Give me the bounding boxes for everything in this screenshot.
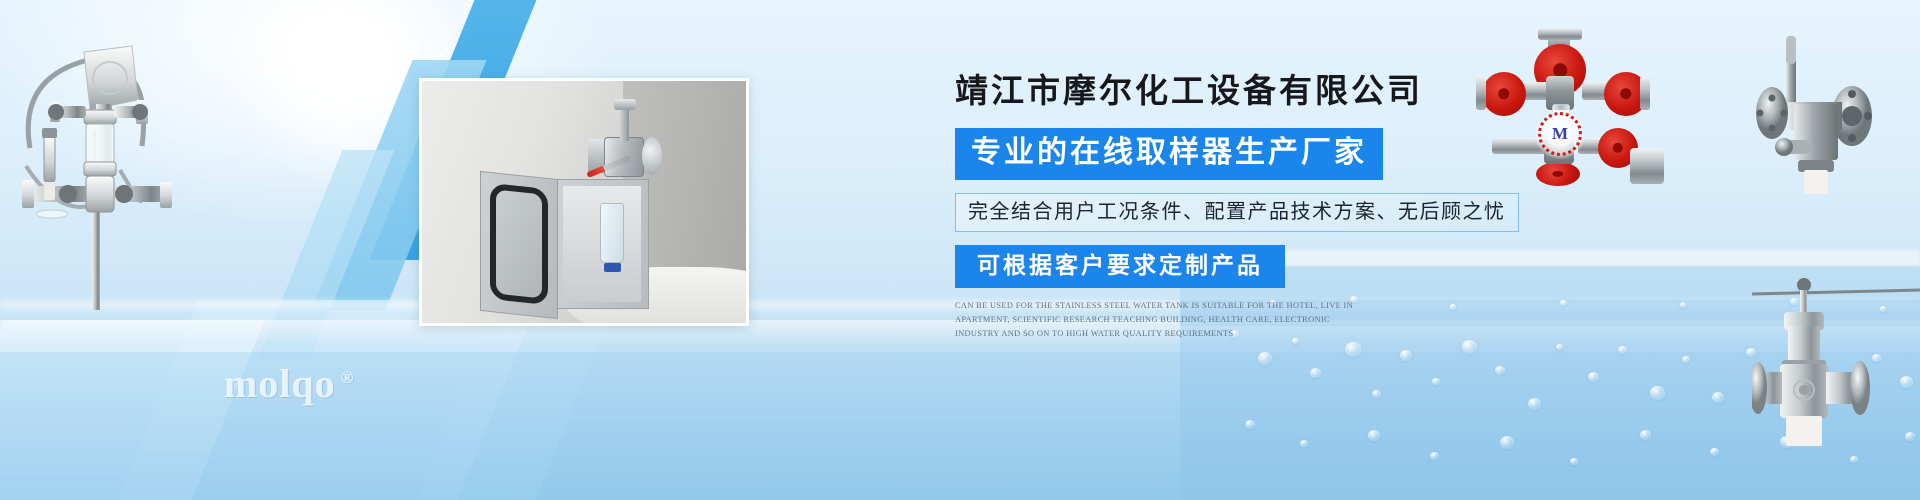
water-droplet xyxy=(1258,352,1272,365)
product-sampling-valve-rig xyxy=(0,18,190,318)
water-droplet xyxy=(1400,350,1412,361)
water-droplet xyxy=(1640,430,1651,440)
water-droplet xyxy=(1368,430,1380,441)
water-droplet xyxy=(1588,372,1599,382)
water-droplet xyxy=(1712,392,1724,403)
lever-valve-icon xyxy=(1742,18,1920,213)
promo-banner: M xyxy=(0,0,1920,500)
water-droplet xyxy=(1462,340,1477,354)
photo-valve-knob xyxy=(614,99,636,110)
sampling-valve-rig-icon xyxy=(0,18,190,318)
product-photo-online-sampler xyxy=(419,78,749,326)
water-droplet xyxy=(1650,386,1665,400)
product-flanged-gate-valve xyxy=(1752,268,1920,463)
photo-bottle-cap xyxy=(604,263,621,272)
watermark-text: molqo xyxy=(224,361,336,406)
water-droplet xyxy=(1500,436,1514,449)
subline-text: 完全结合用户工况条件、配置产品技术方案、无后顾之忧 xyxy=(955,193,1519,232)
product-flanged-lever-valve xyxy=(1742,18,1920,213)
brand-watermark: molqo® xyxy=(224,360,354,407)
gate-valve-icon xyxy=(1752,268,1920,463)
registered-mark-icon: ® xyxy=(341,368,355,387)
tagline-badge: 专业的在线取样器生产厂家 xyxy=(955,128,1383,180)
water-droplet xyxy=(1310,368,1321,378)
manifold-top-flange xyxy=(1538,28,1582,40)
photo-sample-bottle xyxy=(600,203,624,263)
photo-door-window xyxy=(490,183,548,305)
water-droplet xyxy=(1345,342,1361,357)
banner-text-block: 靖江市摩尔化工设备有限公司 专业的在线取样器生产厂家 完全结合用户工况条件、配置… xyxy=(955,72,1715,342)
water-droplet xyxy=(1528,398,1541,410)
photo-cabinet-door xyxy=(480,171,558,319)
photo-valve-flange-right xyxy=(642,137,662,175)
photo-sampling-valve xyxy=(586,103,662,183)
custom-product-badge: 可根据客户要求定制产品 xyxy=(955,245,1285,288)
english-description: CAN BE USED FOR THE STAINLESS STEEL WATE… xyxy=(955,299,1373,342)
company-name: 靖江市摩尔化工设备有限公司 xyxy=(955,72,1715,112)
photo-valve-stem xyxy=(620,105,629,141)
